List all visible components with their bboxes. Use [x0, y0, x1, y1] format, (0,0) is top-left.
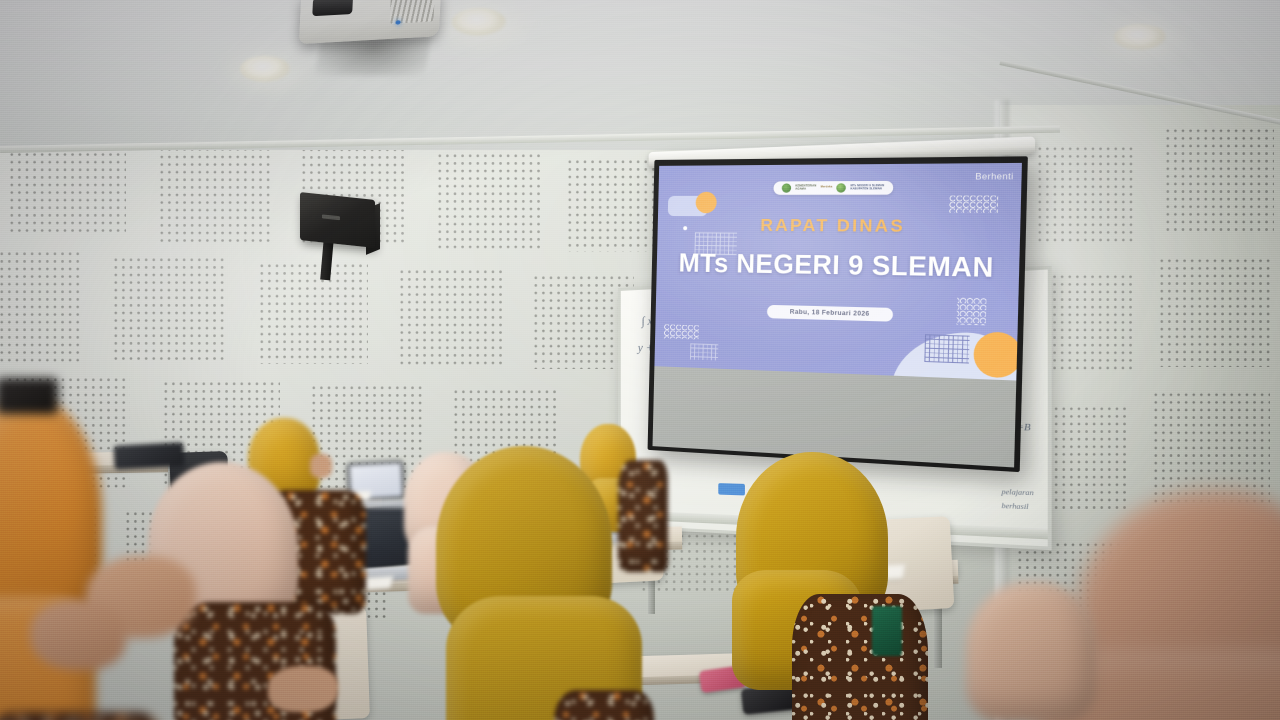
classroom-photo: ∫ x dx = x²/2 + 1/3 + 1⁄x y + 2x/6 + 1/8…: [0, 0, 1280, 720]
ceiling-downlight: [452, 8, 506, 36]
decor-wave-lines: [663, 324, 699, 339]
bag: [113, 442, 184, 470]
ceiling-downlight: [240, 56, 290, 82]
bag: [0, 378, 58, 414]
decor-mesh: [690, 343, 718, 360]
screen-frame: KEMENTERIAN AGAMA Merdeka MTs NEGERI 9 S…: [648, 156, 1028, 472]
slide-logo-pill: KEMENTERIAN AGAMA Merdeka MTs NEGERI 9 S…: [773, 181, 893, 195]
merdeka-logo-caption: Merdeka: [821, 186, 833, 189]
acoustic-panel: [1036, 145, 1136, 243]
batik-outer: [792, 594, 928, 720]
batik-outer: [0, 712, 160, 720]
acoustic-panel: [1164, 127, 1274, 235]
acoustic-panel: [398, 268, 504, 366]
acoustic-panel: [1152, 391, 1270, 505]
hand: [310, 454, 332, 478]
decor-wave-lines: [948, 196, 998, 213]
projector-status-led: [395, 20, 400, 24]
projector-lens: [312, 0, 353, 16]
acoustic-panel: [158, 150, 270, 242]
batik-outer: [554, 690, 654, 720]
kemenag-logo-caption: KEMENTERIAN AGAMA: [795, 185, 816, 191]
acoustic-panel: [436, 152, 540, 249]
screen-surface: KEMENTERIAN AGAMA Merdeka MTs NEGERI 9 S…: [653, 163, 1022, 468]
acoustic-panel: [0, 250, 82, 362]
slide-date-pill: Rabu, 18 Februari 2026: [767, 305, 894, 322]
acoustic-panel: [566, 158, 666, 252]
acoustic-panel: [8, 150, 126, 236]
projection-screen: KEMENTERIAN AGAMA Merdeka MTs NEGERI 9 S…: [648, 156, 1028, 472]
projected-slide: KEMENTERIAN AGAMA Merdeka MTs NEGERI 9 S…: [654, 163, 1022, 381]
whiteboard-side-note: pelajaran: [1001, 488, 1033, 497]
decor-mesh: [924, 334, 969, 363]
slide-kicker: RAPAT DINAS: [658, 215, 1021, 238]
green-folder: [872, 606, 902, 656]
whiteboard-side-note: berhasil: [1001, 502, 1028, 511]
hijab: [966, 582, 1096, 720]
school-logo-icon: [837, 183, 847, 192]
batik-outer: [618, 460, 668, 572]
slide-stop-label: Berhenti: [975, 171, 1014, 182]
school-logo-caption: MTs NEGERI 9 SLEMAN KABUPATEN SLEMAN: [850, 185, 884, 191]
slide-title: MTs NEGERI 9 SLEMAN: [657, 249, 1020, 285]
decor-squiggle-lines: [956, 297, 986, 326]
speaker-brand-mark: [322, 214, 340, 220]
kemenag-logo-icon: [782, 183, 792, 192]
hand: [268, 666, 338, 712]
acoustic-panel: [258, 262, 368, 364]
acoustic-panel: [1158, 257, 1272, 367]
speaker-icon: [300, 192, 375, 248]
decor-circle-orange: [695, 192, 716, 213]
acoustic-panel: [112, 256, 228, 362]
whiteboard-magnet: [718, 483, 745, 495]
ceiling-downlight: [1114, 24, 1166, 50]
hands: [30, 600, 126, 670]
